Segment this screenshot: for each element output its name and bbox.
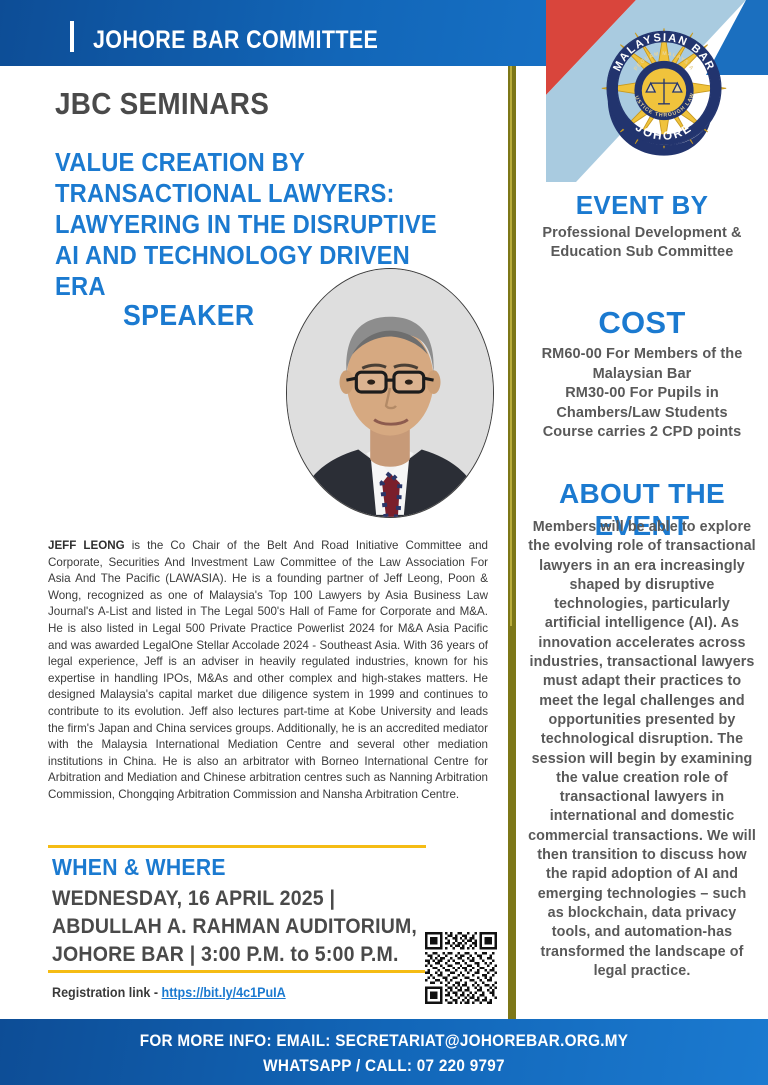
speaker-name: JEFF LEONG xyxy=(48,539,125,552)
cost-line: RM60-00 For Members of the xyxy=(532,345,752,365)
speaker-bio-text: is the Co Chair of the Belt And Road Ini… xyxy=(48,539,488,801)
qr-code-icon xyxy=(425,932,497,1004)
poster-root: JOHORE BAR COMMITTEE xyxy=(0,0,768,1085)
registration-link[interactable]: https://bit.ly/4c1PuIA xyxy=(162,985,286,1000)
speaker-photo-illustration xyxy=(287,269,493,517)
cost-heading: COST xyxy=(516,305,768,341)
when-where-rule-bottom xyxy=(48,970,426,973)
cost-line: Chambers/Law Students xyxy=(532,404,752,424)
registration-qr-code[interactable] xyxy=(425,932,497,1004)
footer-email-line: FOR MORE INFO: EMAIL: SECRETARIAT@JOHORE… xyxy=(38,1031,729,1051)
cost-line: Course carries 2 CPD points xyxy=(532,423,752,443)
when-where-details: WEDNESDAY, 16 APRIL 2025 | ABDULLAH A. R… xyxy=(52,885,424,969)
when-where-heading: WHEN & WHERE xyxy=(52,854,226,881)
vertical-divider-highlight xyxy=(510,66,512,626)
footer-bar: FOR MORE INFO: EMAIL: SECRETARIAT@JOHORE… xyxy=(0,1019,768,1085)
malaysian-bar-crest-icon: MALAYSIAN BAR PEGUAM MALAYSIA JUSTICE TH… xyxy=(590,18,738,166)
speaker-bio: JEFF LEONG is the Co Chair of the Belt A… xyxy=(48,538,488,804)
cost-body: RM60-00 For Members of the Malaysian Bar… xyxy=(516,345,768,443)
cost-line: RM30-00 For Pupils in xyxy=(532,384,752,404)
cost-line: Malaysian Bar xyxy=(532,365,752,385)
when-where-rule-top xyxy=(48,845,426,848)
event-by-heading: EVENT BY xyxy=(516,190,768,221)
footer-phone-line: WHATSAPP / CALL: 07 220 9797 xyxy=(38,1056,729,1076)
header-title: JOHORE BAR COMMITTEE xyxy=(93,26,378,55)
header-accent-bar xyxy=(70,21,74,52)
speaker-portrait xyxy=(286,268,494,518)
registration-label: Registration link - xyxy=(52,985,162,1000)
vertical-divider xyxy=(508,66,516,1019)
speaker-label: SPEAKER xyxy=(123,300,255,333)
logo-block: MALAYSIAN BAR PEGUAM MALAYSIA JUSTICE TH… xyxy=(546,0,768,182)
registration-line: Registration link - https://bit.ly/4c1Pu… xyxy=(52,985,286,1000)
event-by-body: Professional Development & Education Sub… xyxy=(516,224,768,262)
section-kicker: JBC SEMINARS xyxy=(55,86,269,122)
about-event-body: Members will be able to explore the evol… xyxy=(516,518,768,981)
